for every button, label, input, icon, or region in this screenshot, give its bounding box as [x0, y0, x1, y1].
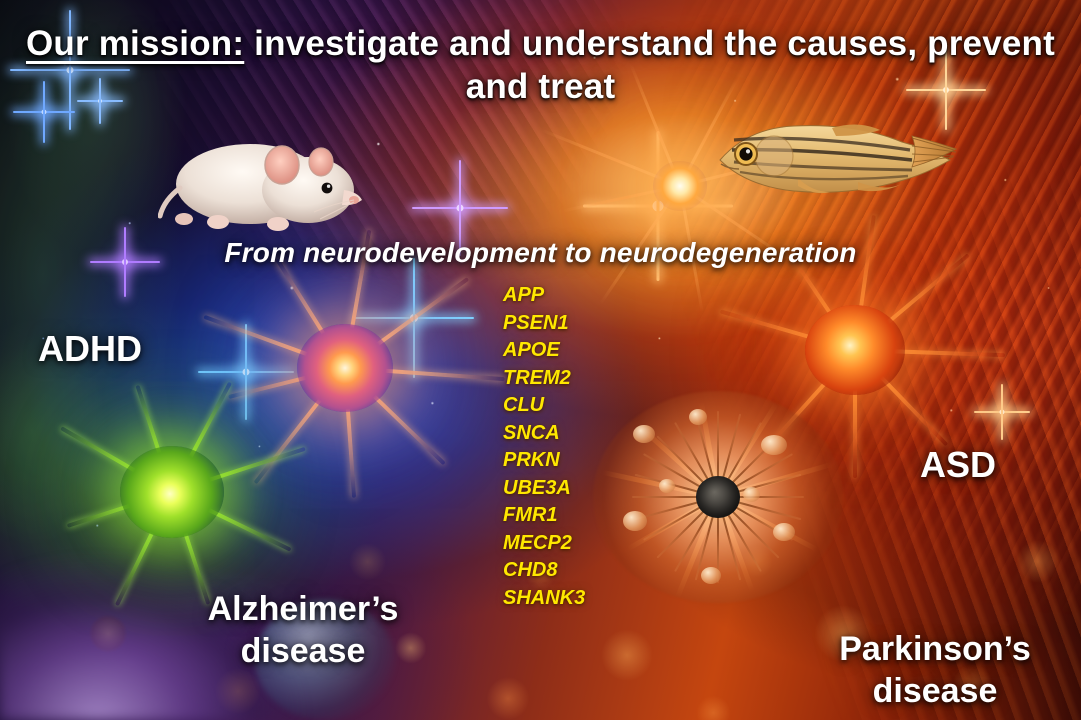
gene-item: TREM2 [503, 365, 585, 392]
gene-item: SHANK3 [503, 585, 585, 612]
mission-underlined: Our mission: [26, 24, 244, 63]
gene-item: CHD8 [503, 557, 585, 584]
gene-item: SNCA [503, 420, 585, 447]
gene-list: APP PSEN1 APOE TREM2 CLU SNCA PRKN UBE3A… [503, 282, 585, 611]
label-asd: ASD [920, 444, 996, 486]
glowing-green-neuron [22, 367, 322, 617]
zebrafish [712, 108, 962, 208]
tagline: From neurodevelopment to neurodegenerati… [0, 237, 1081, 269]
gene-item: PSEN1 [503, 310, 585, 337]
label-adhd: ADHD [38, 328, 142, 370]
label-alzheimers-line1: Alzheimer’s [178, 588, 428, 630]
page-title: Our mission: investigate and understand … [0, 22, 1081, 108]
mission-rest: investigate and understand the causes, p… [244, 24, 1055, 106]
label-alzheimers-line2: disease [178, 630, 428, 672]
gene-item: PRKN [503, 447, 585, 474]
label-parkinsons-line1: Parkinson’s [810, 628, 1060, 670]
laboratory-mouse [158, 118, 370, 238]
microglia-amyloid-plaque-cluster [593, 391, 843, 603]
plaque-nucleus [696, 476, 740, 518]
synapse-core [653, 161, 707, 211]
gene-item: APP [503, 282, 585, 309]
gene-item: UBE3A [503, 475, 585, 502]
label-parkinsons-line2: disease [810, 670, 1060, 712]
neuron-soma [805, 305, 905, 395]
label-alzheimers-disease: Alzheimer’s disease [178, 588, 428, 672]
gene-item: FMR1 [503, 502, 585, 529]
gene-item: MECP2 [503, 530, 585, 557]
gene-item: CLU [503, 392, 585, 419]
label-parkinsons-disease: Parkinson’s disease [810, 628, 1060, 712]
slide-canvas: Our mission: investigate and understand … [0, 0, 1081, 720]
neuron-soma [120, 446, 224, 538]
gene-item: APOE [503, 337, 585, 364]
